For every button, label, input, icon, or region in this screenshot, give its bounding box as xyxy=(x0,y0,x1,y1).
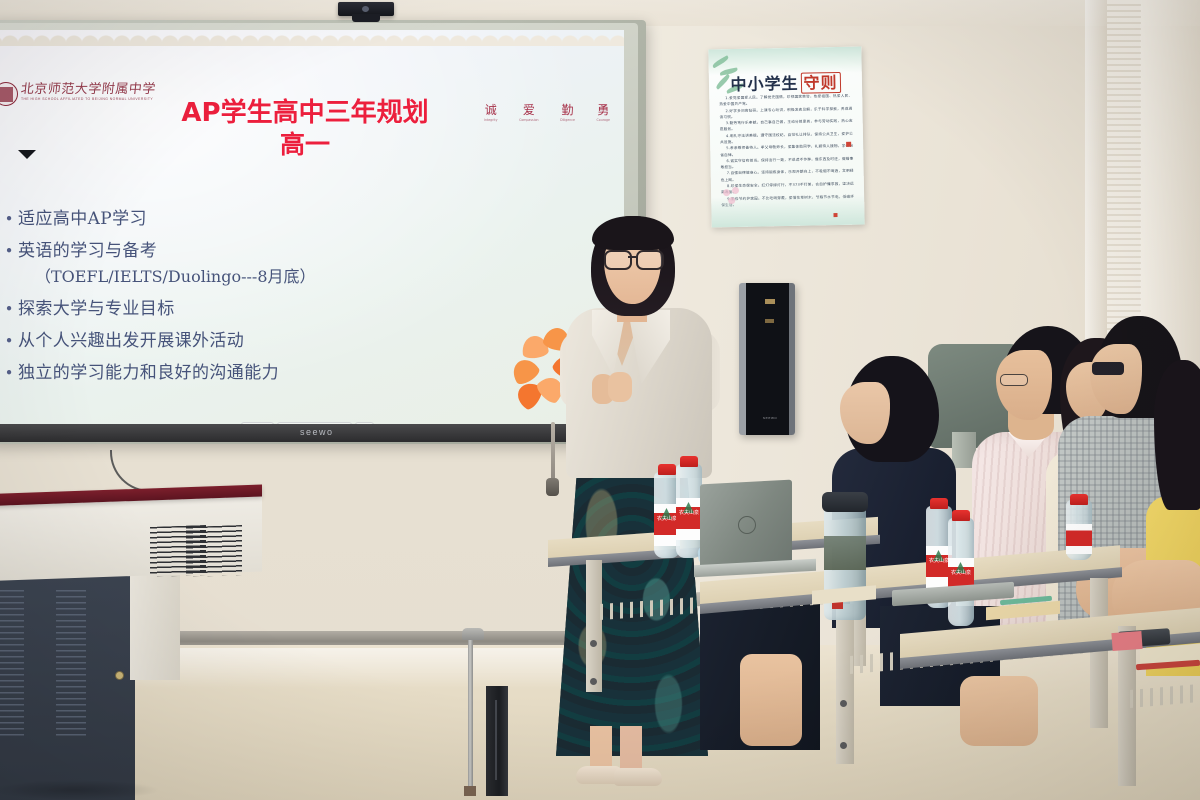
school-logo-chinese: 北京师范大学附属中学 xyxy=(20,78,157,97)
bottle-brand: 农夫山泉 xyxy=(951,570,971,586)
podium-vent xyxy=(186,525,242,577)
podium-shadow xyxy=(0,780,160,800)
list-item: • 从个人兴趣出发开展课外活动 xyxy=(0,328,520,354)
slide-scallop-border xyxy=(0,30,624,46)
eyeglasses-icon xyxy=(1000,374,1028,386)
bullet-text: 适应高中AP学习 xyxy=(18,206,147,232)
bottle-brand: 农夫山泉 xyxy=(679,510,699,526)
poster-pin-icon xyxy=(833,213,837,217)
tumbler-sleeve xyxy=(824,536,866,570)
speaker-led-icon xyxy=(765,319,774,323)
slide-title: AP学生高中三年规划 高一 xyxy=(0,98,624,160)
floor-pipe xyxy=(468,634,473,794)
bottle-label: 农夫山泉 xyxy=(676,498,702,540)
pipe-base xyxy=(464,786,476,796)
bottle-cap-icon xyxy=(1070,494,1088,505)
desk-leg xyxy=(1090,578,1108,728)
bullet-text: 从个人兴趣出发开展课外活动 xyxy=(18,328,244,354)
poster-title-plain: 中小学生 xyxy=(730,74,798,94)
speaker-led-icon xyxy=(765,299,775,304)
presenter-hand xyxy=(608,372,632,402)
bottle-cap-icon xyxy=(680,456,698,467)
laptop-brand-icon xyxy=(738,516,756,534)
webcam-mount xyxy=(352,14,380,22)
tumbler-lid[interactable] xyxy=(822,492,868,512)
poster-title-boxed: 守则 xyxy=(800,72,840,94)
lanyard xyxy=(551,422,555,482)
eyeglasses-icon xyxy=(604,250,632,270)
student-code-poster: 中小学生守则 1.爱党爱国爱人民。了解党史国情，珍视国家荣誉，热爱祖国、热爱人民… xyxy=(708,47,864,228)
bottle-cap-icon xyxy=(952,510,970,521)
attendee-hair xyxy=(1154,360,1200,510)
bottle-label xyxy=(1066,524,1092,554)
poster-title: 中小学生守则 xyxy=(709,69,862,96)
poster-pin-icon xyxy=(846,142,851,147)
desk-bolt xyxy=(840,742,847,749)
pipe-elbow xyxy=(462,628,484,640)
bullet-text: 英语的学习与备考 （TOEFL/IELTS/Duolingo---8月底） xyxy=(18,238,316,290)
desk-leg xyxy=(586,560,602,692)
slide-title-line2: 高一 xyxy=(0,130,624,161)
bottle-cap-icon xyxy=(930,498,948,509)
bullet-dot-icon: • xyxy=(0,238,18,264)
cabinet-lock-icon[interactable] xyxy=(116,672,123,679)
slide-title-line1: AP学生高中三年规划 xyxy=(181,98,428,128)
bullet-dot-icon: • xyxy=(0,328,18,354)
pink-card[interactable] xyxy=(1111,631,1142,651)
bottle-cap-icon xyxy=(658,464,676,475)
list-item: • 独立的学习能力和良好的沟通能力 xyxy=(0,360,520,386)
presenter-shoe xyxy=(614,768,662,786)
badge-icon xyxy=(546,478,559,496)
bullet-dot-icon: • xyxy=(0,296,18,322)
bottle-brand: 农夫山泉 xyxy=(929,558,949,574)
slide-bullet-list: • 适应高中AP学习 • 英语的学习与备考 （TOEFL/IELTS/Duoli… xyxy=(0,206,520,392)
eyeglasses-icon xyxy=(636,250,664,270)
smartboard-screen[interactable]: 北京师范大学附属中学 THE HIGH SCHOOL AFFILIATED TO… xyxy=(0,30,624,424)
smartboard-brand-label: seewo xyxy=(300,427,334,437)
speaker-brand-label: seewo xyxy=(763,415,777,420)
wall-speaker: seewo xyxy=(739,283,795,435)
podium-column xyxy=(130,575,180,680)
bullet-dot-icon: • xyxy=(0,206,18,232)
desk-bolt xyxy=(840,700,847,707)
eyeglass-bridge xyxy=(628,256,636,258)
bullet-text: 探索大学与专业目标 xyxy=(18,296,175,322)
classroom-scene: 北京师范大学附属中学 THE HIGH SCHOOL AFFILIATED TO… xyxy=(0,0,1200,800)
desk-bolt xyxy=(590,678,597,685)
list-item: • 探索大学与专业目标 xyxy=(0,296,520,322)
bullet-main: 英语的学习与备考 xyxy=(18,241,157,261)
bullet-subtext: （TOEFL/IELTS/Duolingo---8月底） xyxy=(18,264,316,290)
desk-leg xyxy=(836,604,854,764)
cabinet-vent xyxy=(56,590,86,740)
desk-bolt xyxy=(590,640,597,647)
bottle-brand: 农夫山泉 xyxy=(657,516,677,532)
list-item: • 英语的学习与备考 （TOEFL/IELTS/Duolingo---8月底） xyxy=(0,238,520,290)
attendee-leg xyxy=(740,654,802,746)
blossom-icon xyxy=(723,187,749,209)
bullet-text: 独立的学习能力和良好的沟通能力 xyxy=(18,360,279,386)
cabinet-vent xyxy=(0,590,24,740)
bullet-dot-icon: • xyxy=(0,360,18,386)
list-item: • 适应高中AP学习 xyxy=(0,206,520,232)
floor-outlet-box xyxy=(486,686,508,796)
eyeglasses-icon xyxy=(1092,362,1124,375)
attendee-leg xyxy=(960,676,1038,746)
outlet-seam xyxy=(495,700,497,780)
